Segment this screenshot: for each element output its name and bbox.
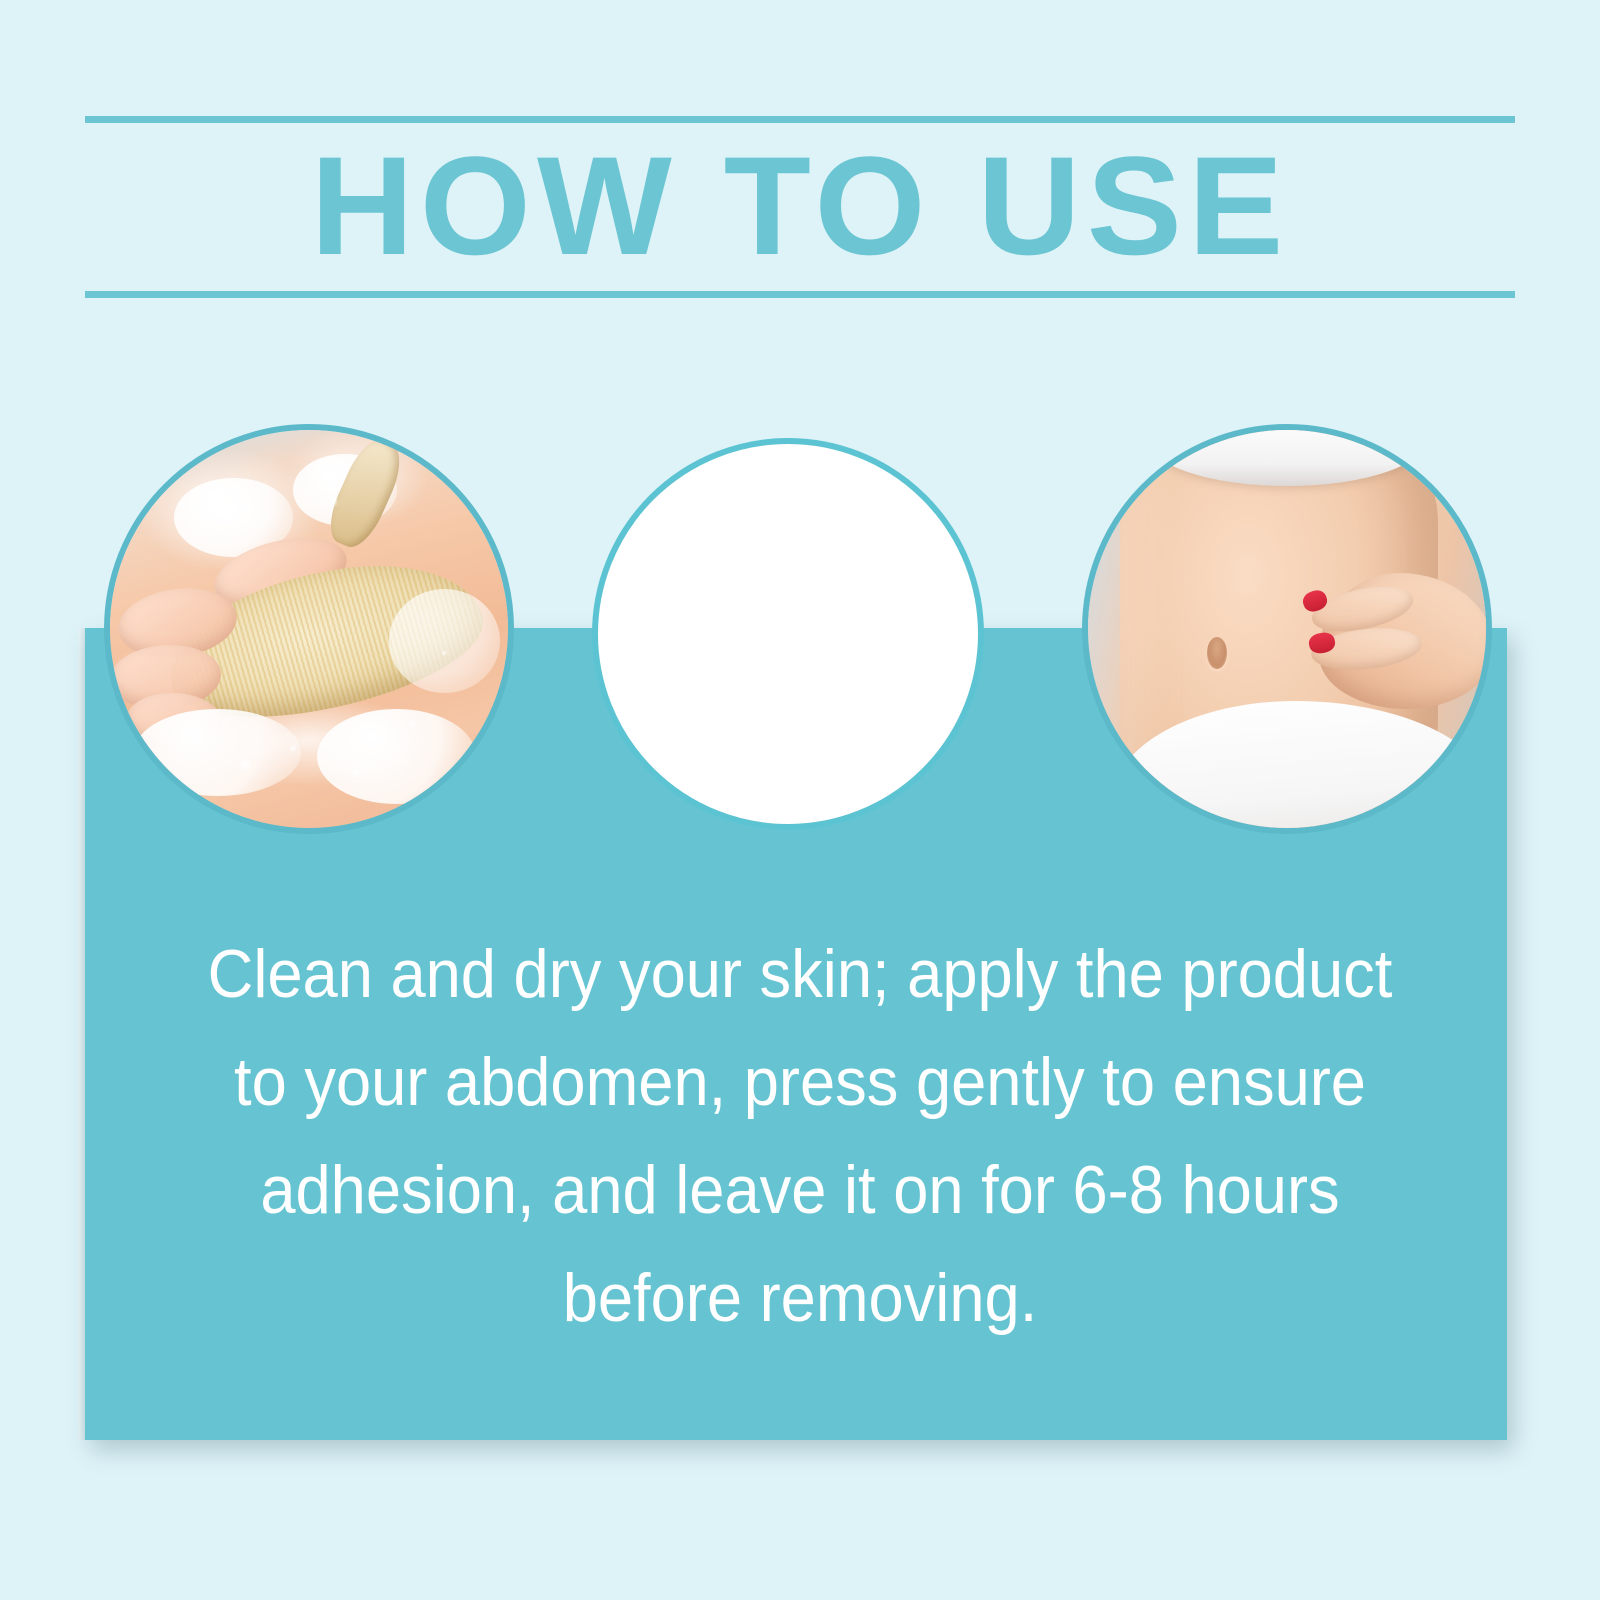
- soap-bubbles: [110, 430, 508, 828]
- abdomen-photo: [1088, 430, 1486, 828]
- step-image-apply-abdomen: [1082, 424, 1492, 834]
- title-rule-top: [85, 116, 1515, 123]
- step-image-clean-skin: [104, 424, 514, 834]
- title-rule-bottom: [85, 291, 1515, 298]
- bath-photo: [110, 430, 508, 828]
- infographic-canvas: HOW TO USE Clean and dry your skin; appl…: [0, 0, 1600, 1600]
- instruction-text: Clean and dry your skin; apply the produ…: [186, 920, 1414, 1352]
- step-image-product-package: HOUKEA Authentic GLP-1 NANO-MICRONEEDLE …: [592, 438, 984, 830]
- page-title: HOW TO USE: [0, 126, 1600, 286]
